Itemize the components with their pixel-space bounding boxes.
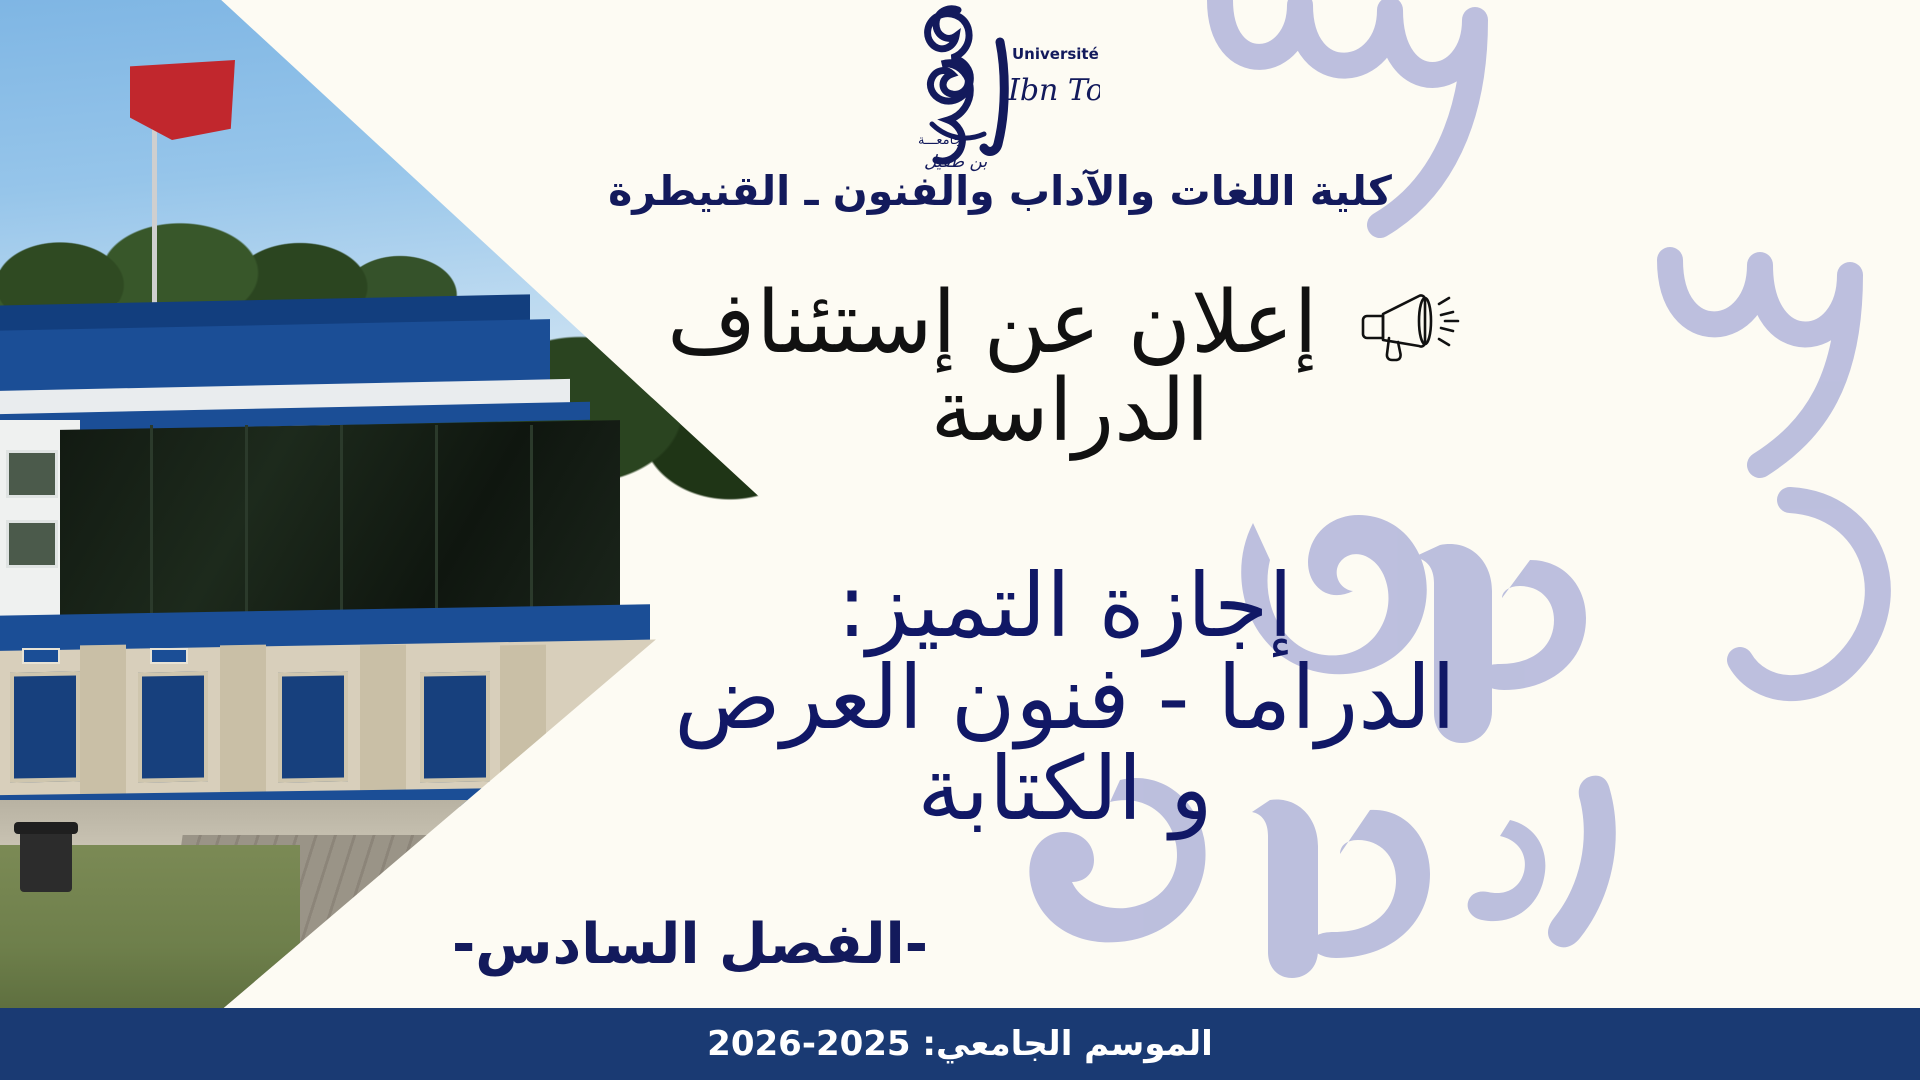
program-line-2: الدراما - فنون العرض [540,652,1590,744]
logo-arabic-line1: جامعـــة [918,133,962,148]
headline-line-2: الدراسة [560,368,1580,456]
megaphone-icon [1361,284,1473,362]
building-window [6,520,58,568]
headline-text-1: إعلان عن إستئناف [667,273,1317,373]
headline-block: إعلان عن إستئناف الدراسة [560,280,1580,455]
semester-label: -الفصل السادس- [330,912,1050,977]
footer-banner: الموسم الجامعي: 2025-2026 [0,1008,1920,1080]
building-window [6,450,58,498]
door-sign [150,648,188,664]
logo-french-line2: Ibn Tofail [1007,73,1100,108]
arabic-calligraphy-watermark [970,0,1920,1080]
building-door [138,671,208,782]
glass-mullion [435,425,438,615]
building-door [420,671,490,782]
building-pillar [80,645,126,796]
glass-mullion [530,425,533,615]
building-door [278,671,348,782]
door-sign [22,648,60,664]
glass-mullion [340,425,343,615]
building-door [10,671,80,782]
trash-bin-lid [14,822,78,834]
trash-bin [20,830,72,892]
faculty-title: كلية اللغات والآداب والفنون ـ القنيطرة [420,168,1580,215]
building-pillar [360,645,406,796]
program-block: إجازة التميز: الدراما - فنون العرض و الك… [540,560,1590,835]
logo-french-line1: Université [1012,45,1099,63]
glass-mullion [245,425,248,615]
announcement-poster: جامعـــة بن طفيل Université Ibn Tofail ك… [0,0,1920,1080]
headline-line-1: إعلان عن إستئناف [560,280,1580,368]
megaphone-holder [1317,273,1472,373]
glass-mullion [150,425,153,615]
academic-year-label: الموسم الجامعي: 2025-2026 [707,1024,1213,1064]
program-line-3: و الكتابة [540,743,1590,835]
program-line-1: إجازة التميز: [540,560,1590,652]
building-pillar [220,645,266,796]
university-logo: جامعـــة بن طفيل Université Ibn Tofail [840,4,1100,184]
faculty-building-photo [0,0,790,1010]
